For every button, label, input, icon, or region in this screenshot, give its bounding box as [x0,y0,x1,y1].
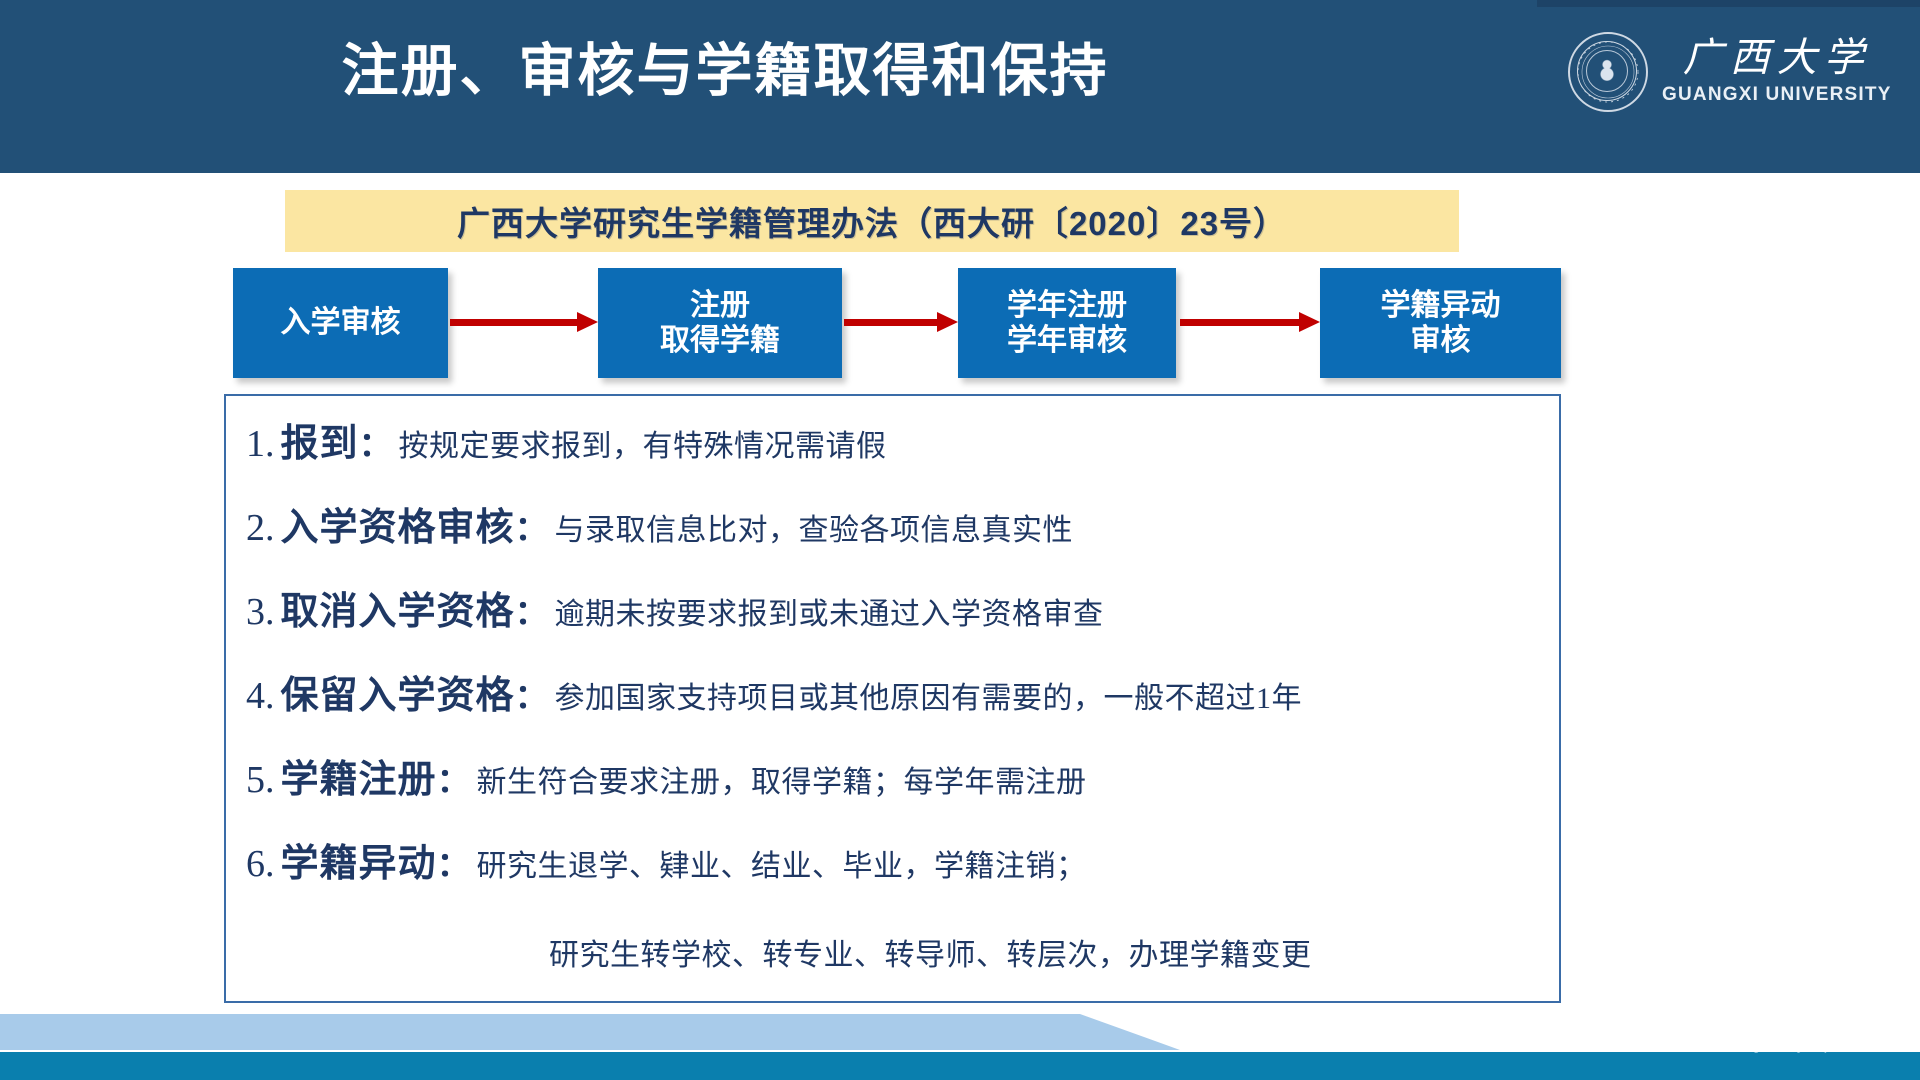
logo-english-name: GUANGXI UNIVERSITY [1662,84,1892,106]
list-item: 2. 入学资格审核 ： 与录取信息比对，查验各项信息真实性 [246,496,1546,580]
list-item-separator: ： [515,669,549,718]
logo-text-block: 广西大学 GUANGXI UNIVERSITY [1662,38,1892,106]
list-item: 5. 学籍注册 ： 新生符合要求注册，取得学籍；每学年需注册 [246,748,1546,832]
logo-chinese-name: 广西大学 [1683,38,1871,78]
list-item-separator: ： [515,585,549,634]
list-item-separator: ： [437,837,471,886]
regulation-banner: 广西大学研究生学籍管理办法（西大研〔2020〕23号） [285,190,1459,252]
page-title: 注册、审核与学籍取得和保持 [0,40,1450,103]
list-item-number: 5. [246,758,275,802]
list-item-number: 2. [246,506,275,550]
list-item-number: 6. [246,842,275,886]
footer-angled-band-icon [0,1014,1920,1050]
list-item-separator: ： [359,417,393,466]
numbered-list: 1. 报到 ： 按规定要求报到，有特殊情况需请假 2. 入学资格审核 ： 与录取… [246,412,1546,996]
list-item-body: 新生符合要求注册，取得学籍；每学年需注册 [477,757,1087,801]
flow-step-line: 学年注册 [1007,288,1127,323]
regulation-banner-text: 广西大学研究生学籍管理办法（西大研〔2020〕23号） [457,197,1287,245]
flow-step-line: 入学审核 [281,305,401,340]
list-item-heading: 学籍注册 [281,748,437,803]
content-box: 1. 报到 ： 按规定要求报到，有特殊情况需请假 2. 入学资格审核 ： 与录取… [224,394,1561,1003]
flow-step-annual-review: 学年注册 学年审核 [958,268,1176,378]
flow-step-status-change-review: 学籍异动 审核 [1320,268,1561,378]
flow-step-line: 学籍异动 [1381,288,1501,323]
list-item-body: 研究生退学、肄业、结业、毕业，学籍注销； [477,841,1087,885]
flow-step-line: 注册 [690,288,750,323]
list-item-separator: ： [437,753,471,802]
flow-step-line: 取得学籍 [660,323,780,358]
seal-ring-decor-icon [1570,34,1646,110]
list-item-heading: 取消入学资格 [281,580,515,635]
list-item-number: 1. [246,422,275,466]
university-logo: 广西大学 GUANGXI UNIVERSITY [1568,32,1892,112]
list-item-number: 3. [246,590,275,634]
process-flow-diagram: 入学审核 注册 取得学籍 学年注册 学年审核 学籍异动 审核 [0,268,1920,386]
list-item-continuation: 研究生转学校、转专业、转导师、转层次，办理学籍变更 [246,916,1546,996]
flow-arrow-3-icon [1180,315,1320,329]
list-item-number: 4. [246,674,275,718]
list-item: 4. 保留入学资格 ： 参加国家支持项目或其他原因有需要的，一般不超过1年 [246,664,1546,748]
list-item-heading: 报到 [281,412,359,467]
flow-step-line: 审核 [1411,323,1471,358]
list-item-heading: 入学资格审核 [281,496,515,551]
list-item-heading: 学籍异动 [281,832,437,887]
list-item-heading: 保留入学资格 [281,664,515,719]
watermark: jazzysquest.com [1753,1034,1914,1054]
slide-header: 注册、审核与学籍取得和保持 广西大学 GUANGXI UNIVERSITY [0,0,1920,173]
footer-bar [0,1052,1920,1080]
university-seal-icon [1568,32,1648,112]
list-item-body: 与录取信息比对，查验各项信息真实性 [555,505,1074,549]
flow-step-admission-review: 入学审核 [233,268,448,378]
list-item: 6. 学籍异动 ： 研究生退学、肄业、结业、毕业，学籍注销； [246,832,1546,916]
list-item-body: 参加国家支持项目或其他原因有需要的，一般不超过1年 [555,673,1303,717]
flow-arrow-2-icon [844,315,958,329]
flow-step-line: 学年审核 [1007,323,1127,358]
list-item-separator: ： [515,501,549,550]
list-item-body: 逾期未按要求报到或未通过入学资格审查 [555,589,1104,633]
list-item: 1. 报到 ： 按规定要求报到，有特殊情况需请假 [246,412,1546,496]
flow-step-registration: 注册 取得学籍 [598,268,842,378]
list-item: 3. 取消入学资格 ： 逾期未按要求报到或未通过入学资格审查 [246,580,1546,664]
list-item-body: 按规定要求报到，有特殊情况需请假 [399,421,887,465]
flow-arrow-1-icon [450,315,598,329]
